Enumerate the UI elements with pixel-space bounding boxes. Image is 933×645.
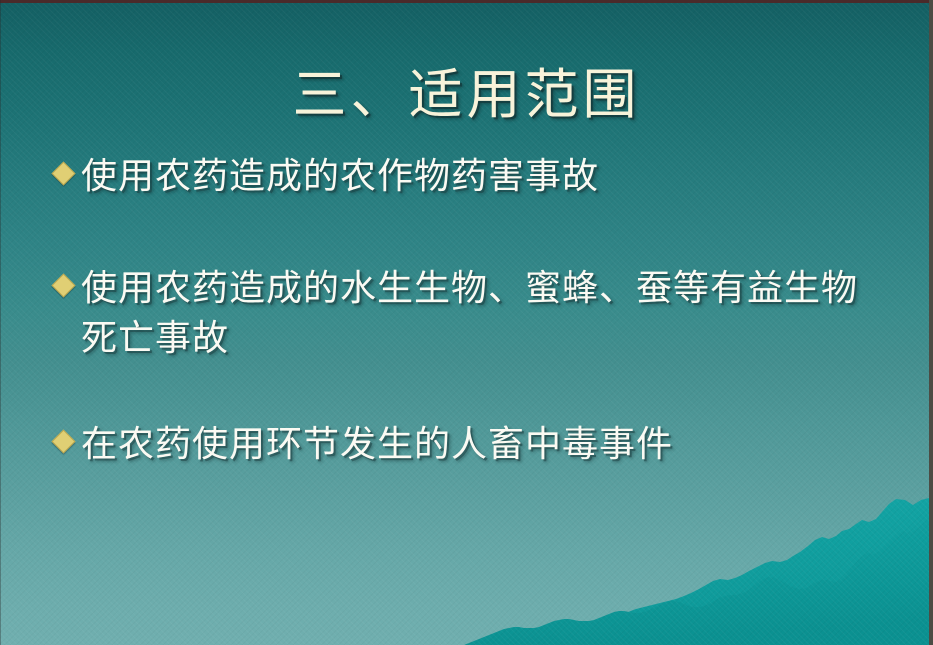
list-item: 使用农药造成的农作物药害事故 (55, 152, 885, 202)
presentation-slide: 三、适用范围 使用农药造成的农作物药害事故 使用农药造成的水生生物、蜜蜂、蚕等有… (0, 0, 933, 645)
diamond-bullet-icon (51, 429, 75, 453)
list-item: 在农药使用环节发生的人畜中毒事件 (55, 420, 885, 470)
slide-title: 三、适用范围 (0, 61, 933, 129)
list-item: 使用农药造成的水生生物、蜜蜂、蚕等有益生物死亡事故 (55, 264, 885, 364)
slide-border-top (0, 0, 933, 3)
bullet-list: 使用农药造成的农作物药害事故 使用农药造成的水生生物、蜜蜂、蚕等有益生物死亡事故… (55, 152, 885, 470)
diamond-bullet-icon (51, 161, 75, 185)
diamond-bullet-icon (51, 273, 75, 297)
slide-border-right (929, 0, 933, 645)
list-item-text: 使用农药造成的农作物药害事故 (81, 152, 885, 202)
list-item-text: 在农药使用环节发生的人畜中毒事件 (81, 420, 885, 470)
list-item-text: 使用农药造成的水生生物、蜜蜂、蚕等有益生物死亡事故 (81, 264, 871, 364)
slide-border-left (0, 0, 1, 645)
